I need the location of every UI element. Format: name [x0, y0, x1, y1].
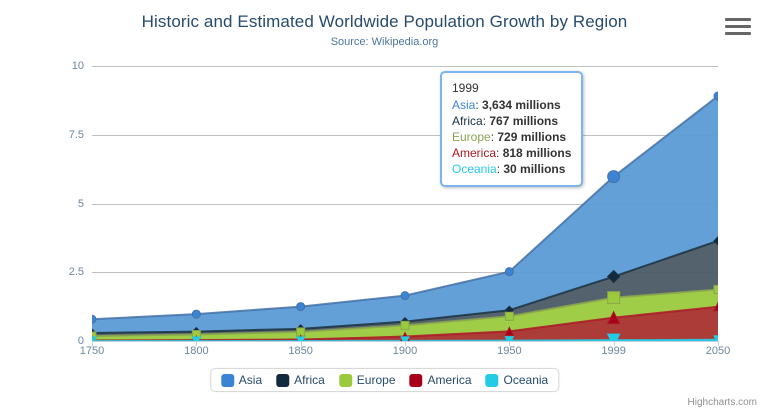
- chart-legend: AsiaAfricaEuropeAmericaOceania: [210, 368, 559, 392]
- data-point-marker[interactable]: [505, 268, 513, 276]
- tooltip-series-value: 3,634 millions: [482, 98, 561, 112]
- tooltip-header: 1999: [452, 80, 571, 96]
- data-point-marker[interactable]: [714, 92, 718, 100]
- tooltip-series-value: 767 millions: [489, 114, 558, 128]
- data-point-marker[interactable]: [505, 312, 513, 320]
- x-axis-tick-label: 1850: [288, 345, 312, 357]
- tooltip-series-name: Oceania: [452, 162, 497, 176]
- legend-label: Europe: [357, 373, 396, 387]
- tooltip-row: Asia: 3,634 millions: [452, 97, 571, 113]
- chart-title: Historic and Estimated Worldwide Populat…: [0, 12, 769, 32]
- y-axis-tick-label: 2.5: [24, 266, 84, 278]
- legend-item-africa[interactable]: Africa: [276, 373, 325, 387]
- legend-label: Africa: [294, 373, 325, 387]
- chart-subtitle: Source: Wikipedia.org: [0, 36, 769, 48]
- y-axis-tick-label: 10: [24, 60, 84, 72]
- legend-label: Asia: [239, 373, 262, 387]
- x-axis-tick-label: 1800: [184, 345, 208, 357]
- y-axis-tick-label: 0: [24, 335, 84, 347]
- legend-swatch-icon: [221, 374, 234, 387]
- tooltip-row: America: 818 millions: [452, 145, 571, 161]
- credits-label[interactable]: Highcharts.com: [688, 397, 757, 408]
- x-axis-labels: 1750180018501900195019992050: [92, 345, 718, 363]
- tooltip-series-value: 818 millions: [503, 146, 572, 160]
- series-layer: [92, 66, 718, 341]
- data-point-marker[interactable]: [608, 171, 620, 183]
- tooltip-series-value: 729 millions: [497, 130, 566, 144]
- legend-swatch-icon: [339, 374, 352, 387]
- legend-label: Oceania: [504, 373, 549, 387]
- legend-swatch-icon: [410, 374, 423, 387]
- data-point-marker[interactable]: [297, 303, 305, 311]
- tooltip-rows: Asia: 3,634 millionsAfrica: 767 millions…: [452, 97, 571, 177]
- tooltip-series-name: Europe: [452, 130, 491, 144]
- tooltip-series-name: Asia: [452, 98, 475, 112]
- legend-swatch-icon: [276, 374, 289, 387]
- tooltip-row: Europe: 729 millions: [452, 129, 571, 145]
- x-axis-tick-label: 1750: [80, 345, 104, 357]
- tooltip-row: Oceania: 30 millions: [452, 161, 571, 177]
- legend-item-europe[interactable]: Europe: [339, 373, 396, 387]
- menu-bar-1: [725, 18, 751, 21]
- x-axis-tick-label: 1900: [393, 345, 417, 357]
- tooltip-separator: :: [496, 146, 503, 160]
- x-axis-tick-label: 1950: [497, 345, 521, 357]
- legend-label: America: [428, 373, 472, 387]
- data-point-marker[interactable]: [714, 285, 718, 293]
- legend-item-oceania[interactable]: Oceania: [486, 373, 549, 387]
- y-axis-tick-label: 5: [24, 198, 84, 210]
- tooltip: 1999 Asia: 3,634 millionsAfrica: 767 mil…: [440, 71, 583, 187]
- highcharts-container: Historic and Estimated Worldwide Populat…: [0, 0, 769, 416]
- data-point-marker[interactable]: [401, 292, 409, 300]
- legend-swatch-icon: [486, 374, 499, 387]
- x-axis-tick-label: 2050: [706, 345, 730, 357]
- hamburger-menu-icon[interactable]: [725, 18, 751, 40]
- tooltip-series-value: 30 millions: [503, 162, 565, 176]
- data-point-marker[interactable]: [401, 321, 409, 329]
- legend-item-america[interactable]: America: [410, 373, 472, 387]
- y-axis-labels: 02.557.510: [22, 66, 84, 341]
- data-point-marker[interactable]: [92, 315, 96, 323]
- tooltip-row: Africa: 767 millions: [452, 113, 571, 129]
- y-axis-tick-label: 7.5: [24, 129, 84, 141]
- legend-item-asia[interactable]: Asia: [221, 373, 262, 387]
- data-point-marker[interactable]: [608, 292, 620, 304]
- tooltip-separator: :: [475, 98, 482, 112]
- data-point-marker[interactable]: [192, 310, 200, 318]
- menu-bar-3: [725, 32, 751, 35]
- tooltip-series-name: America: [452, 146, 496, 160]
- menu-bar-2: [725, 25, 751, 28]
- tooltip-series-name: Africa: [452, 114, 483, 128]
- x-axis-tick-label: 1999: [601, 345, 625, 357]
